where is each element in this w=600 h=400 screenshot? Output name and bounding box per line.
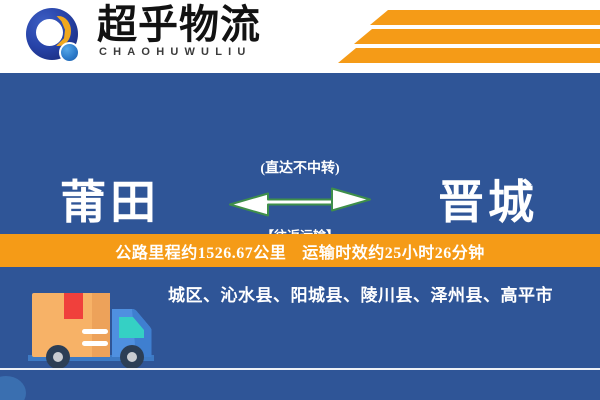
delivery-truck-icon: [24, 277, 174, 377]
route-info-bar: 公路里程约1526.67公里 运输时效约25小时26分钟: [0, 234, 600, 267]
bottom-divider-line: [0, 368, 600, 370]
chaohu-logistics-logo-icon: [26, 8, 84, 66]
logistics-route-banner: 超乎物流 CHAOHUWULIU 莆田 (直达不中转) 【往返运输】 晋城 公路…: [0, 0, 600, 400]
duration-text: 运输时效约25小时26分钟: [302, 239, 485, 263]
banner-header: 超乎物流 CHAOHUWULIU: [0, 0, 600, 73]
brand-name-pinyin: CHAOHUWULIU: [99, 46, 252, 58]
bidirectional-arrow-icon: [224, 183, 376, 221]
corner-decoration: [0, 376, 26, 400]
coverage-panel: 城区、沁水县、阳城县、陵川县、泽州县、高平市: [0, 267, 600, 400]
brand-name-chinese: 超乎物流: [97, 4, 261, 46]
logo-inner-hole: [36, 19, 63, 46]
route-middle-group: (直达不中转) 【往返运输】: [205, 161, 395, 246]
orange-stripes-decoration: [290, 0, 600, 73]
coverage-areas-text: 城区、沁水县、阳城县、陵川县、泽州县、高平市: [168, 283, 586, 309]
direct-service-note: (直达不中转): [205, 161, 395, 179]
route-panel: 莆田 (直达不中转) 【往返运输】 晋城: [0, 73, 600, 232]
origin-city-name: 莆田: [60, 175, 160, 231]
logo-accent-dot-icon: [59, 42, 80, 63]
distance-text: 公路里程约1526.67公里: [115, 239, 286, 263]
destination-city-name: 晋城: [438, 175, 538, 231]
